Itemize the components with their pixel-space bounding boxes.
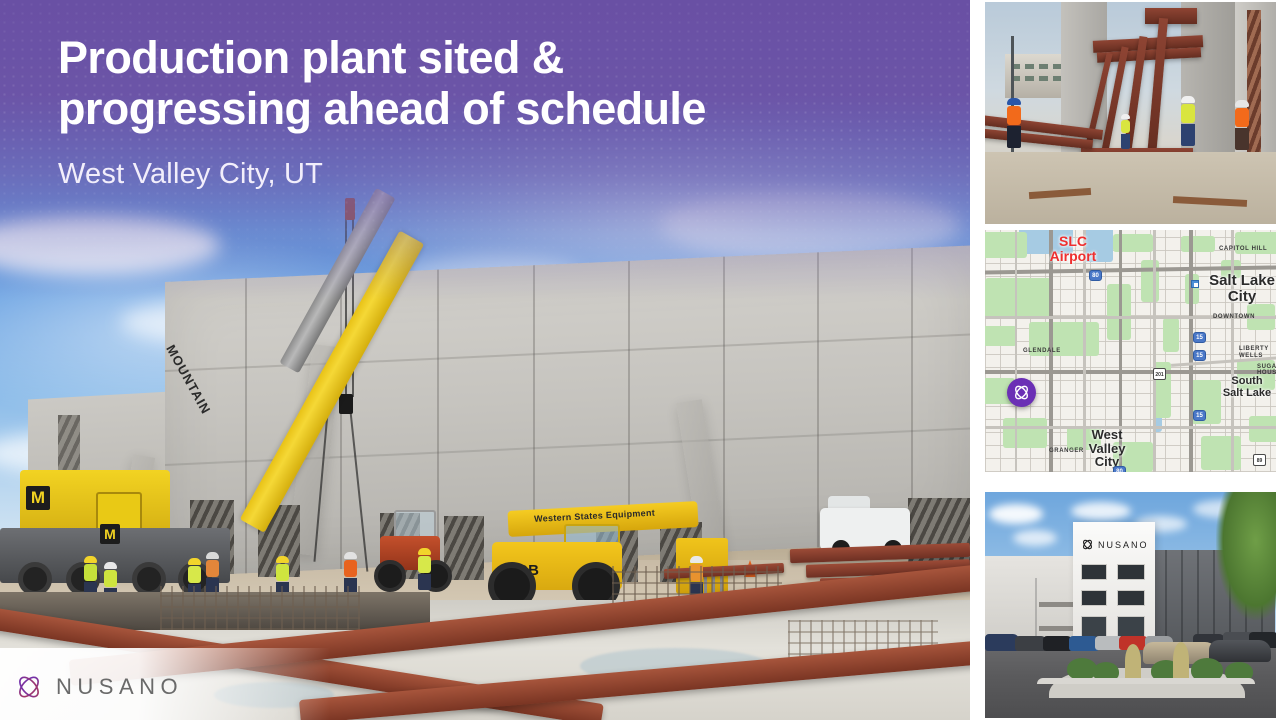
steel-erection-photo <box>985 2 1276 224</box>
map-park <box>1181 236 1215 252</box>
city-label-line-3: City <box>1079 455 1135 469</box>
page-title: Production plant sited & progressing ahe… <box>58 32 918 135</box>
tractor-wheel <box>374 560 406 592</box>
nusano-atom-icon <box>14 672 44 702</box>
crane-m-badge: M <box>26 486 50 510</box>
wall-opening <box>58 415 80 475</box>
window <box>1081 590 1107 606</box>
map-park <box>1003 418 1047 448</box>
main-construction-photo: MOUNTAIN M M Western States Equipment JC… <box>0 0 970 720</box>
crane-m-badge: M <box>100 524 120 544</box>
curb <box>1037 678 1255 684</box>
map-road <box>1015 230 1017 472</box>
map-label-south-salt-lake: South Salt Lake <box>1211 376 1276 399</box>
headline-line-1: Production plant sited & <box>58 32 918 83</box>
map-label-slc-airport: SLC Airport <box>1035 234 1111 263</box>
construction-worker <box>1121 114 1130 149</box>
construction-worker <box>418 548 431 590</box>
city-label-line-2: Salt Lake <box>1211 388 1276 400</box>
map-label-glendale: GLENDALE <box>1023 348 1061 354</box>
nusano-site-pin[interactable] <box>1007 378 1036 407</box>
window <box>1117 590 1145 606</box>
steel-brace <box>1247 10 1261 160</box>
map-road <box>1153 230 1156 472</box>
ornamental-grass <box>1173 642 1189 678</box>
crane-wheel <box>18 562 52 596</box>
map-road <box>1231 230 1234 472</box>
map-park <box>1249 416 1276 442</box>
interstate-shield: 15 <box>1193 332 1206 343</box>
brand-logo-lockup[interactable]: NUSANO <box>14 672 183 702</box>
headline-line-2: progressing ahead of schedule <box>58 83 918 134</box>
interstate-shield: 15 <box>1193 410 1206 421</box>
site-location-map[interactable]: SLC Airport Salt Lake City South Salt La… <box>985 230 1276 472</box>
cloud <box>989 504 1043 524</box>
presentation-slide: MOUNTAIN M M Western States Equipment JC… <box>0 0 1280 720</box>
us-route-shield: 89 <box>1253 454 1266 466</box>
map-city-marker <box>1191 280 1199 288</box>
architectural-rendering: NUSANO <box>985 492 1276 718</box>
right-image-column: SLC Airport Salt Lake City South Salt La… <box>985 0 1280 720</box>
construction-worker <box>1007 98 1021 148</box>
parked-car <box>1209 640 1271 662</box>
map-park <box>1163 318 1179 352</box>
ornamental-grass <box>1125 644 1141 678</box>
map-label-granger: GRANGER <box>1049 448 1084 454</box>
rebar-mat <box>160 586 360 630</box>
interstate-shield: 80 <box>1113 466 1126 472</box>
map-label-capitol-hill: CAPITOL HILL <box>1219 246 1267 252</box>
city-label-line-1: South <box>1211 376 1276 388</box>
nusano-wordmark: NUSANO <box>56 674 183 700</box>
cloud <box>1071 502 1131 520</box>
map-park <box>985 232 1027 258</box>
airport-label-line-2: Airport <box>1035 249 1111 264</box>
us-route-shield: 201 <box>1153 368 1166 380</box>
map-park <box>1201 436 1241 470</box>
map-label-salt-lake-city: Salt Lake City <box>1203 273 1276 305</box>
steel-beam <box>1145 8 1197 24</box>
nusano-atom-icon <box>1081 538 1094 551</box>
parked-car <box>985 634 1019 651</box>
page-subtitle: West Valley City, UT <box>58 158 323 191</box>
entry-glazing <box>1081 616 1107 638</box>
building-signage: NUSANO <box>1081 538 1149 551</box>
city-label-line-2: City <box>1203 289 1276 305</box>
construction-worker <box>1235 100 1249 150</box>
map-label-west-valley-city: West Valley City <box>1079 428 1135 469</box>
map-label-sugar-house: SUGAR HOUSE <box>1257 364 1276 376</box>
window <box>1117 564 1145 580</box>
map-label-liberty-wells: LIBERTY WELLS <box>1239 346 1271 360</box>
construction-worker <box>1181 96 1195 146</box>
utility-tractor <box>372 508 458 592</box>
photo-ground <box>985 152 1276 224</box>
map-park <box>985 278 1051 318</box>
cloud <box>1013 530 1057 546</box>
interstate-shield: 15 <box>1193 350 1206 361</box>
building-sign-text: NUSANO <box>1098 540 1149 550</box>
tree <box>1216 492 1276 620</box>
map-park <box>1141 260 1159 302</box>
map-park <box>985 326 1017 346</box>
crane-hook-block <box>339 394 353 414</box>
interstate-shield: 80 <box>1089 270 1102 281</box>
city-label-line-1: Salt Lake <box>1203 273 1276 289</box>
city-label-line-1: West <box>1079 428 1135 442</box>
airport-label-line-1: SLC <box>1035 234 1111 249</box>
window <box>1081 564 1107 580</box>
map-label-downtown: DOWNTOWN <box>1213 314 1255 320</box>
